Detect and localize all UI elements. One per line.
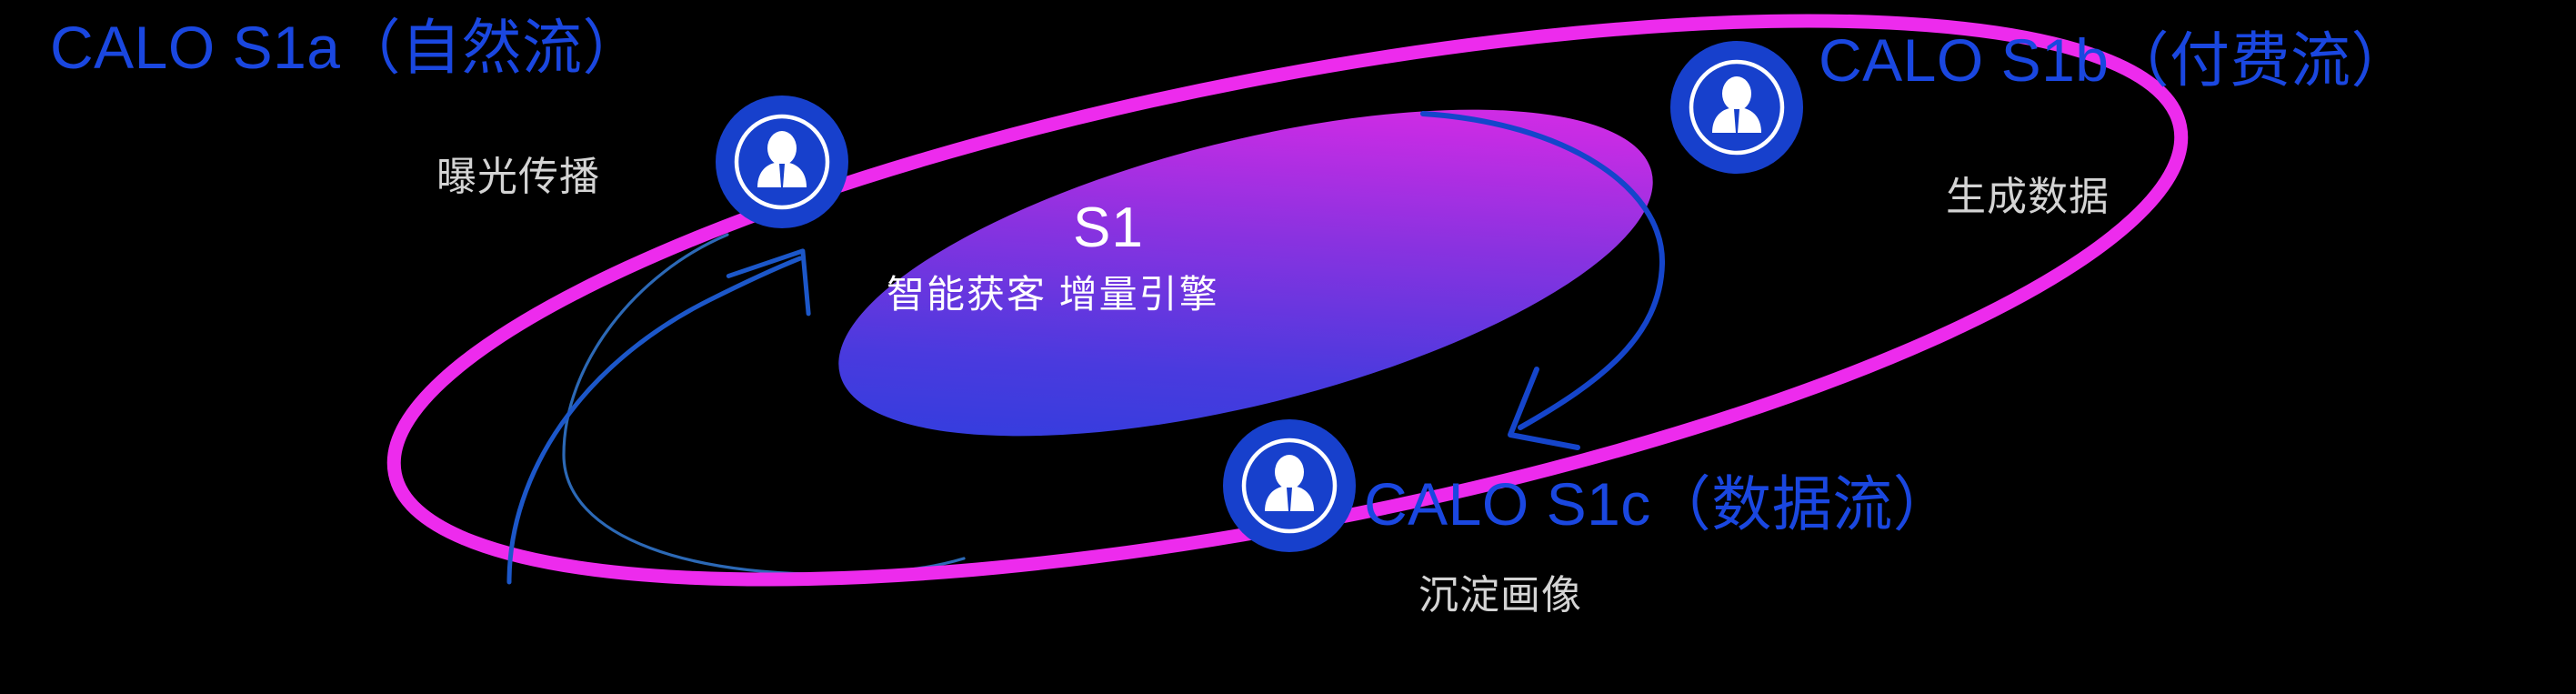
diagram-svg bbox=[0, 0, 2576, 694]
node-s1c[interactable] bbox=[1223, 419, 1356, 552]
node-s1b[interactable] bbox=[1670, 41, 1803, 174]
node-s1a[interactable] bbox=[716, 96, 848, 228]
diagram-canvas: CALO S1a（自然流） 曝光传播 CALO S1b（付费流） 生成数据 CA… bbox=[0, 0, 2576, 694]
